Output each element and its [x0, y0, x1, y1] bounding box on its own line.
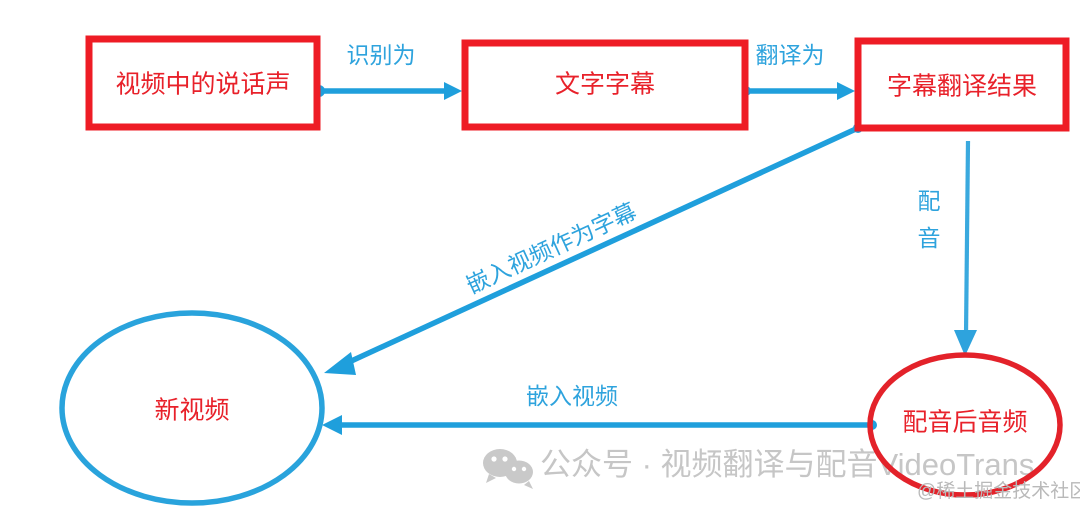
edge-line: [966, 141, 968, 336]
node-text-subtitle[interactable]: 文字字幕: [465, 43, 745, 127]
edge-label-translate-to: 翻译为: [756, 42, 825, 68]
arrowhead-icon: [324, 352, 356, 375]
arrowhead-icon: [322, 415, 342, 435]
edge-label-embed-as-subtitle: 嵌入视频作为字幕: [462, 198, 640, 299]
edge-dubbing: 配 音: [918, 141, 978, 356]
edge-recognize-as: 识别为: [313, 42, 462, 100]
wechat-icon: [483, 449, 533, 489]
watermark-secondary-text: @稀土掘金技术社区: [917, 480, 1080, 502]
edge-embed-video: 嵌入视频: [322, 383, 877, 435]
node-speech-in-video[interactable]: 视频中的说话声: [89, 39, 317, 127]
node-translated-subtitle[interactable]: 字幕翻译结果: [858, 41, 1066, 128]
node-new-video[interactable]: 新视频: [62, 313, 322, 503]
watermark-primary-text: 公众号 · 视频翻译与配音VideoTrans: [540, 447, 1034, 482]
arrowhead-icon: [954, 330, 977, 356]
diagram-canvas: 识别为 翻译为 配 音 嵌入视频作为字幕 嵌入视频: [0, 0, 1080, 511]
edge-label-recognize-as: 识别为: [347, 42, 416, 68]
arrowhead-icon: [837, 82, 855, 100]
arrowhead-icon: [444, 82, 462, 100]
edge-label-embed-video: 嵌入视频: [526, 383, 618, 409]
node-label-dubbed-audio: 配音后音频: [902, 409, 1027, 437]
edge-line: [347, 128, 858, 363]
node-label-translated-subtitle: 字幕翻译结果: [887, 73, 1037, 101]
node-label-new-video: 新视频: [154, 397, 229, 425]
node-label-text-subtitle: 文字字幕: [555, 71, 655, 99]
edge-embed-as-subtitle: 嵌入视频作为字幕: [324, 123, 863, 375]
edge-label-dubbing-char-2: 音: [918, 225, 941, 251]
edge-label-dubbing-char-1: 配: [918, 188, 941, 214]
edge-translate-to: 翻译为: [741, 42, 855, 100]
node-label-speech-in-video: 视频中的说话声: [115, 71, 290, 99]
